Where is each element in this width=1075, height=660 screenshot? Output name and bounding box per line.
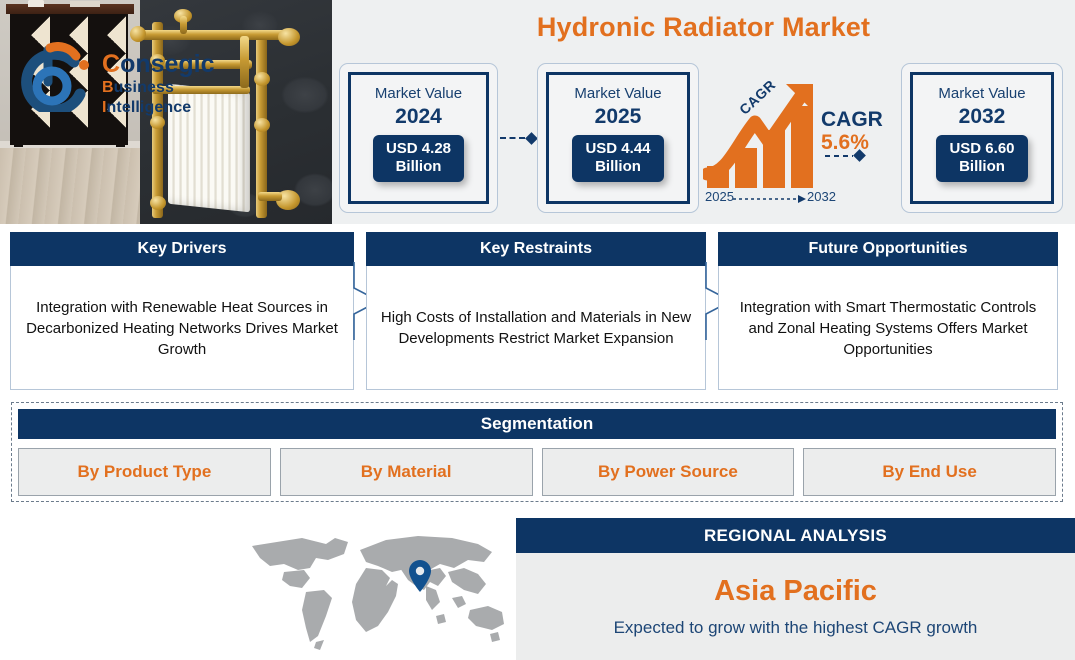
logo-tagline-b: B bbox=[102, 79, 114, 96]
world-map-icon bbox=[240, 524, 512, 654]
photo-dresser-leg bbox=[116, 133, 125, 147]
card-value: USD 4.44 bbox=[585, 140, 650, 158]
logo-tagline-ntelligence: ntelligence bbox=[107, 99, 192, 116]
logo-company-name: Consegic bbox=[102, 50, 242, 78]
cagr-end-year: 2032 bbox=[807, 189, 836, 204]
card-value-badge: USD 6.60 Billion bbox=[936, 135, 1027, 182]
consegic-logo-text: Consegic Business Intelligence bbox=[102, 50, 242, 118]
connector-line bbox=[500, 137, 525, 139]
regional-analysis-region: Asia Pacific bbox=[516, 575, 1075, 608]
consegic-logo[interactable]: Consegic Business Intelligence bbox=[14, 42, 242, 112]
segmentation-heading: Segmentation bbox=[18, 409, 1056, 439]
cagr-graphic: CAGR CAGR 5.6% 2025 2032 bbox=[703, 78, 903, 213]
photo-dresser-object-2 bbox=[70, 1, 100, 7]
card-year: 2025 bbox=[595, 104, 642, 129]
panel-text: High Costs of Installation and Materials… bbox=[375, 267, 697, 389]
photo-floor bbox=[0, 148, 150, 224]
logo-company-initial: C bbox=[102, 50, 120, 78]
card-value-badge: USD 4.44 Billion bbox=[572, 135, 663, 182]
photo-radiator-mount-stem bbox=[258, 192, 282, 201]
segment-by-power-source[interactable]: By Power Source bbox=[542, 448, 795, 496]
segmentation-section: Segmentation By Product Type By Material… bbox=[11, 402, 1063, 502]
cagr-title: CAGR bbox=[821, 108, 883, 132]
connector-diamond-icon bbox=[525, 132, 538, 145]
regional-analysis-note: Expected to grow with the highest CAGR g… bbox=[516, 618, 1075, 638]
photo-radiator-wall-mount bbox=[278, 28, 300, 46]
photo-radiator-knob bbox=[130, 26, 146, 42]
panel-future-opportunities: Future Opportunities Integration with Sm… bbox=[718, 232, 1058, 390]
segmentation-items: By Product Type By Material By Power Sou… bbox=[18, 448, 1056, 496]
photo-dresser-object-1 bbox=[28, 0, 44, 7]
segment-by-end-use[interactable]: By End Use bbox=[803, 448, 1056, 496]
cagr-start-year: 2025 bbox=[705, 189, 734, 204]
card-year: 2032 bbox=[959, 104, 1006, 129]
card-unit: Billion bbox=[386, 158, 451, 176]
market-value-card-2032: Market Value 2032 USD 6.60 Billion bbox=[901, 63, 1063, 213]
panel-heading: Key Restraints bbox=[366, 232, 706, 266]
card-label: Market Value bbox=[574, 84, 661, 103]
card-value: USD 6.60 bbox=[949, 140, 1014, 158]
panel-key-drivers: Key Drivers Integration with Renewable H… bbox=[10, 232, 354, 390]
photo-dresser-leg bbox=[14, 133, 23, 147]
logo-tagline-usiness: usiness bbox=[114, 79, 174, 96]
market-value-card-2024: Market Value 2024 USD 4.28 Billion bbox=[339, 63, 498, 213]
panel-heading: Future Opportunities bbox=[718, 232, 1058, 266]
card-label: Market Value bbox=[375, 84, 462, 103]
card-value-badge: USD 4.28 Billion bbox=[373, 135, 464, 182]
photo-radiator-mount-stem bbox=[180, 16, 187, 34]
panel-text: Integration with Renewable Heat Sources … bbox=[19, 267, 345, 389]
card-unit: Billion bbox=[949, 158, 1014, 176]
infographic-root: Hydronic Radiator Market Market Value 20… bbox=[0, 0, 1075, 660]
page-title: Hydronic Radiator Market bbox=[332, 12, 1075, 43]
panel-text: Integration with Smart Thermostatic Cont… bbox=[727, 267, 1049, 389]
panel-key-restraints: Key Restraints High Costs of Installatio… bbox=[366, 232, 706, 390]
connector-2024-2025 bbox=[500, 132, 536, 144]
panel-heading: Key Drivers bbox=[10, 232, 354, 266]
insight-panels: Key Drivers Integration with Renewable H… bbox=[0, 224, 1075, 396]
regional-analysis-panel: REGIONAL ANALYSIS Asia Pacific Expected … bbox=[516, 518, 1075, 660]
segment-by-material[interactable]: By Material bbox=[280, 448, 533, 496]
card-value: USD 4.28 bbox=[386, 140, 451, 158]
photo-radiator-foot bbox=[150, 196, 166, 210]
cagr-value: 5.6% bbox=[821, 131, 869, 155]
logo-company-rest: onsegic bbox=[120, 50, 214, 78]
market-value-card-2025: Market Value 2025 USD 4.44 Billion bbox=[537, 63, 699, 213]
card-unit: Billion bbox=[585, 158, 650, 176]
photo-radiator-rail-top bbox=[136, 30, 286, 40]
photo-radiator-joint bbox=[254, 118, 270, 132]
logo-tagline: Business Intelligence bbox=[102, 78, 242, 118]
photo-radiator-joint bbox=[254, 72, 270, 86]
card-year: 2024 bbox=[395, 104, 442, 129]
card-label: Market Value bbox=[938, 84, 1025, 103]
regional-analysis-heading: REGIONAL ANALYSIS bbox=[516, 518, 1075, 553]
consegic-logo-mark-icon bbox=[14, 42, 100, 112]
segment-by-product-type[interactable]: By Product Type bbox=[18, 448, 271, 496]
